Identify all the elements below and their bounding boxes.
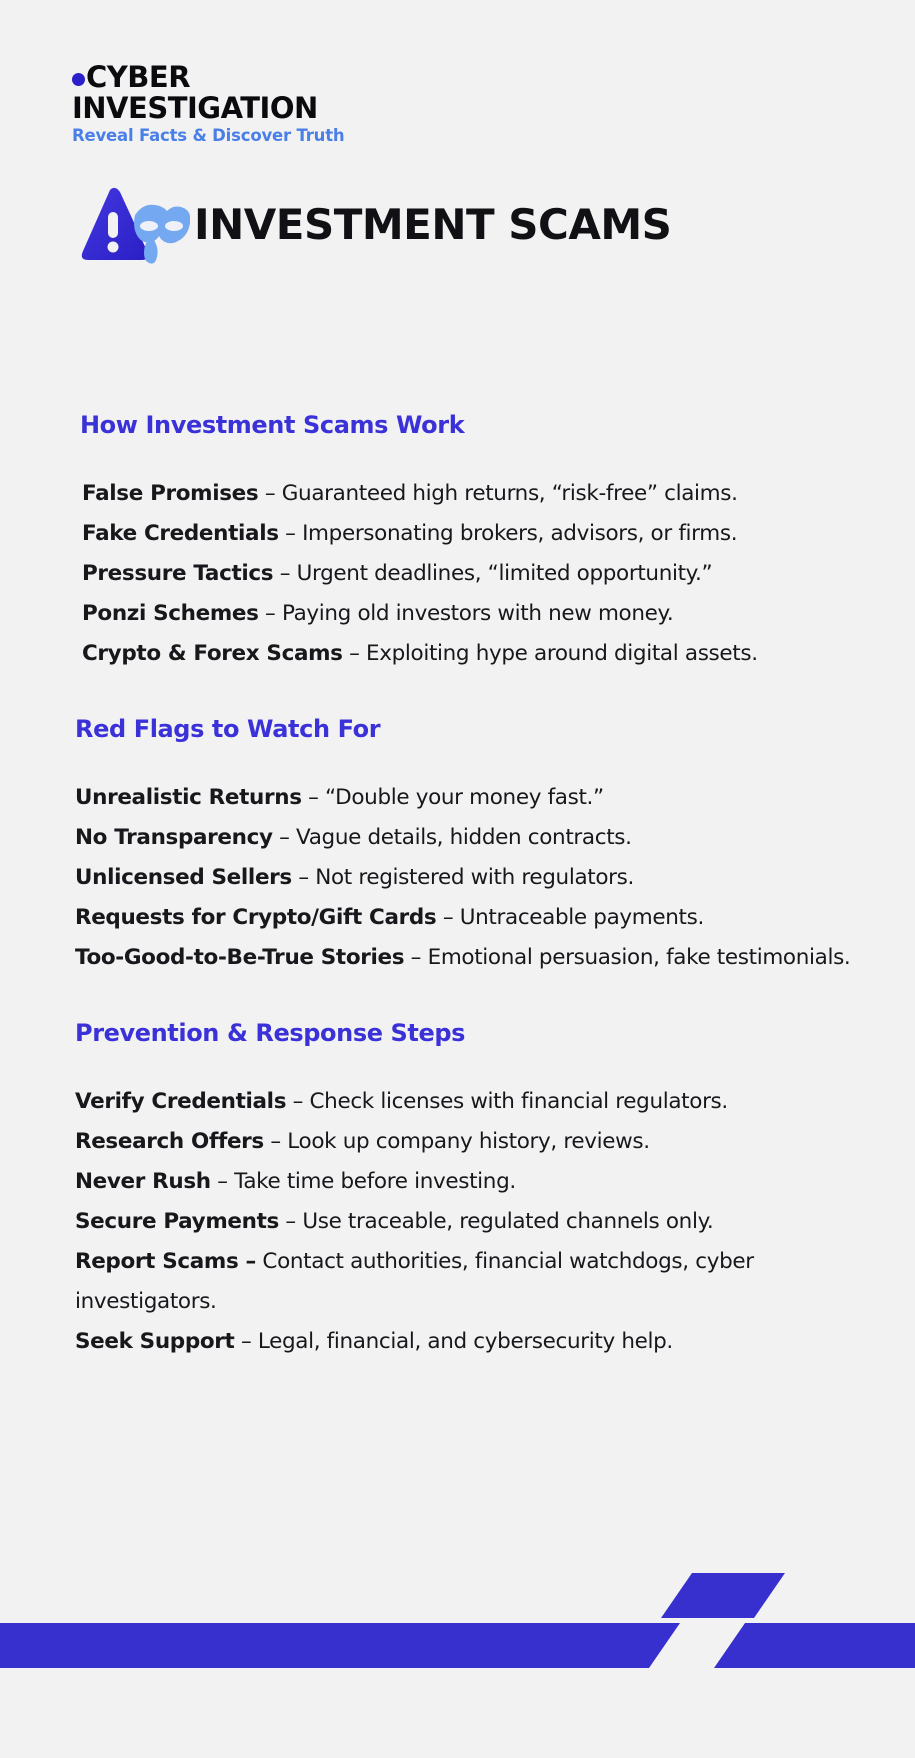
section-heading: How Investment Scams Work xyxy=(80,410,881,440)
page-title-row: INVESTMENT SCAMS xyxy=(74,182,671,268)
list-item-term: Unlicensed Sellers xyxy=(75,865,292,890)
section-heading: Red Flags to Watch For xyxy=(75,714,881,744)
list-item-term: Research Offers xyxy=(75,1129,264,1154)
list-item-dash: – xyxy=(273,825,296,850)
list-item-term: Requests for Crypto/Gift Cards xyxy=(75,905,436,930)
list-item-term: Crypto & Forex Scams xyxy=(82,641,343,666)
section-how-scams-work: How Investment Scams Work False Promises… xyxy=(0,410,915,674)
list-item: Crypto & Forex Scams – Exploiting hype a… xyxy=(82,634,881,674)
list-item-desc: Vague details, hidden contracts. xyxy=(296,825,632,850)
list-item-term: Seek Support xyxy=(75,1329,234,1354)
brand-word-investigation: INVESTIGATION xyxy=(72,93,372,124)
list-item-desc: Impersonating brokers, advisors, or firm… xyxy=(302,521,737,546)
list-item: False Promises – Guaranteed high returns… xyxy=(82,474,881,514)
list-item: Seek Support – Legal, financial, and cyb… xyxy=(75,1322,881,1362)
footer-bar-left-parallelogram xyxy=(0,1623,680,1668)
brand-logo: CYBER INVESTIGATION Reveal Facts & Disco… xyxy=(72,62,372,146)
list-item: Requests for Crypto/Gift Cards – Untrace… xyxy=(75,898,881,938)
list-item-term: Report Scams – xyxy=(75,1249,256,1274)
list-item-dash: – xyxy=(343,641,366,666)
list-item: Research Offers – Look up company histor… xyxy=(75,1122,881,1162)
list-item-desc: Look up company history, reviews. xyxy=(287,1129,649,1154)
list-item-desc: Paying old investors with new money. xyxy=(282,601,673,626)
list-item-desc: Legal, financial, and cybersecurity help… xyxy=(258,1329,673,1354)
list-item-term: Pressure Tactics xyxy=(82,561,273,586)
page-title: INVESTMENT SCAMS xyxy=(194,201,671,249)
list-item-desc: Urgent deadlines, “limited opportunity.” xyxy=(297,561,713,586)
brand-word-cyber: CYBER xyxy=(86,62,190,92)
title-icon-group xyxy=(74,182,190,268)
anonymous-mask-icon xyxy=(74,182,190,268)
list-item-term: Never Rush xyxy=(75,1169,211,1194)
list-item-term: Verify Credentials xyxy=(75,1089,286,1114)
list-item-desc: Check licenses with financial regulators… xyxy=(310,1089,728,1114)
list-item-desc: “Double your money fast.” xyxy=(325,785,604,810)
dot-icon xyxy=(72,73,85,86)
section-heading: Prevention & Response Steps xyxy=(75,1018,881,1048)
list-item-dash: – xyxy=(404,945,427,970)
list-item-dash: – xyxy=(211,1169,234,1194)
brand-logo-line1: CYBER xyxy=(72,62,372,92)
brand-tagline: Reveal Facts & Discover Truth xyxy=(72,126,372,146)
list-item: Report Scams – Contact authorities, fina… xyxy=(75,1242,881,1322)
list-item: Verify Credentials – Check licenses with… xyxy=(75,1082,881,1122)
list-item: Too-Good-to-Be-True Stories – Emotional … xyxy=(75,938,881,978)
list-item-desc: Emotional persuasion, fake testimonials. xyxy=(428,945,851,970)
list-item: Secure Payments – Use traceable, regulat… xyxy=(75,1202,881,1242)
section-spacer xyxy=(0,978,915,1018)
list-item-term: Ponzi Schemes xyxy=(82,601,259,626)
list-item-dash: – xyxy=(264,1129,287,1154)
section-spacer xyxy=(0,674,915,714)
list-item-term: Unrealistic Returns xyxy=(75,785,302,810)
list-item-desc: Use traceable, regulated channels only. xyxy=(302,1209,713,1234)
list-item-term: Secure Payments xyxy=(75,1209,279,1234)
list-item-dash: – xyxy=(279,521,302,546)
list-item: Unlicensed Sellers – Not registered with… xyxy=(75,858,881,898)
list-item: No Transparency – Vague details, hidden … xyxy=(75,818,881,858)
list-item: Ponzi Schemes – Paying old investors wit… xyxy=(82,594,881,634)
footer-top-parallelogram xyxy=(661,1573,785,1618)
list-item: Never Rush – Take time before investing. xyxy=(75,1162,881,1202)
list-item: Fake Credentials – Impersonating brokers… xyxy=(82,514,881,554)
list-item-desc: Guaranteed high returns, “risk-free” cla… xyxy=(282,481,738,506)
list-item-dash: – xyxy=(259,601,282,626)
list-item-dash: – xyxy=(273,561,296,586)
list-item-desc: Exploiting hype around digital assets. xyxy=(366,641,758,666)
list-item-dash: – xyxy=(302,785,325,810)
list-item-dash: – xyxy=(234,1329,257,1354)
list-item: Pressure Tactics – Urgent deadlines, “li… xyxy=(82,554,881,594)
section-red-flags: Red Flags to Watch For Unrealistic Retur… xyxy=(0,714,915,978)
footer-graphic xyxy=(0,1570,915,1700)
list-item-term: No Transparency xyxy=(75,825,273,850)
list-item-term: False Promises xyxy=(82,481,258,506)
content-area: How Investment Scams Work False Promises… xyxy=(0,410,915,1362)
list-item-dash: – xyxy=(436,905,459,930)
list-item-dash: – xyxy=(292,865,315,890)
list-item: Unrealistic Returns – “Double your money… xyxy=(75,778,881,818)
section-prevention-steps: Prevention & Response Steps Verify Crede… xyxy=(0,1018,915,1362)
list-item-term: Too-Good-to-Be-True Stories xyxy=(75,945,404,970)
list-item-dash: – xyxy=(286,1089,309,1114)
list-item-dash: – xyxy=(279,1209,302,1234)
list-item-desc: Take time before investing. xyxy=(234,1169,516,1194)
list-item-desc: Untraceable payments. xyxy=(460,905,704,930)
list-item-term: Fake Credentials xyxy=(82,521,279,546)
list-item-desc: Not registered with regulators. xyxy=(315,865,634,890)
list-item-dash: – xyxy=(258,481,281,506)
